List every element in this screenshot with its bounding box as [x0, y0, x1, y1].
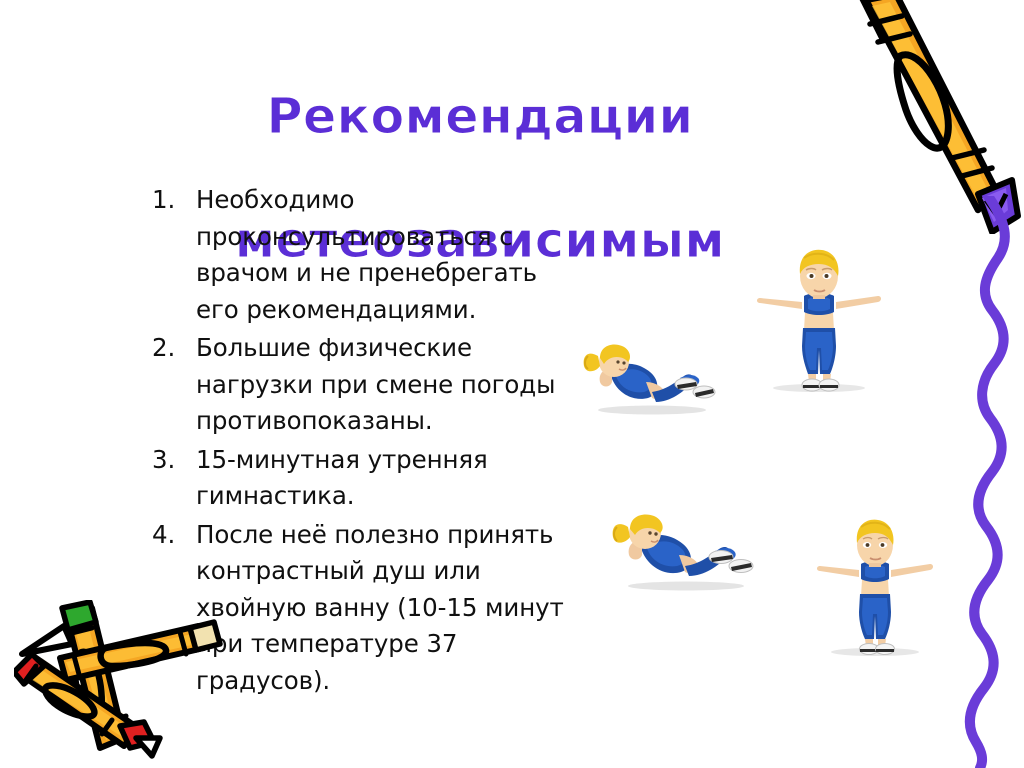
figure-situp-lower-icon — [606, 502, 754, 592]
figure-situp-upper-icon — [576, 332, 716, 416]
list-item-number: 1. — [152, 182, 192, 219]
list-item-text: Большие физические нагрузки при смене по… — [196, 330, 570, 440]
list-item: 1. Необходимо проконсультироваться с вра… — [150, 182, 570, 328]
figure-standing-lower-icon — [816, 516, 934, 658]
list-item-number: 3. — [152, 442, 192, 479]
list-item: 3. 15-минутная утренняя гимнастика. — [150, 442, 570, 515]
list-item-text: Необходимо проконсультироваться с врачом… — [196, 182, 570, 328]
list-item-text: 15-минутная утренняя гимнастика. — [196, 442, 570, 515]
list-item-text: После неё полезно принять контрастный ду… — [196, 517, 570, 700]
figure-standing-upper-icon — [756, 246, 882, 394]
page-title-line-1: Рекомендации — [150, 86, 810, 148]
slide-canvas: Рекомендации метеозависимым 1. Необходим… — [0, 0, 1024, 768]
crayons-group-icon — [14, 600, 224, 760]
list-item: 2. Большие физические нагрузки при смене… — [150, 330, 570, 440]
purple-wavy-line-icon — [940, 196, 1024, 768]
list-item-number: 4. — [152, 517, 192, 554]
list-item-number: 2. — [152, 330, 192, 367]
